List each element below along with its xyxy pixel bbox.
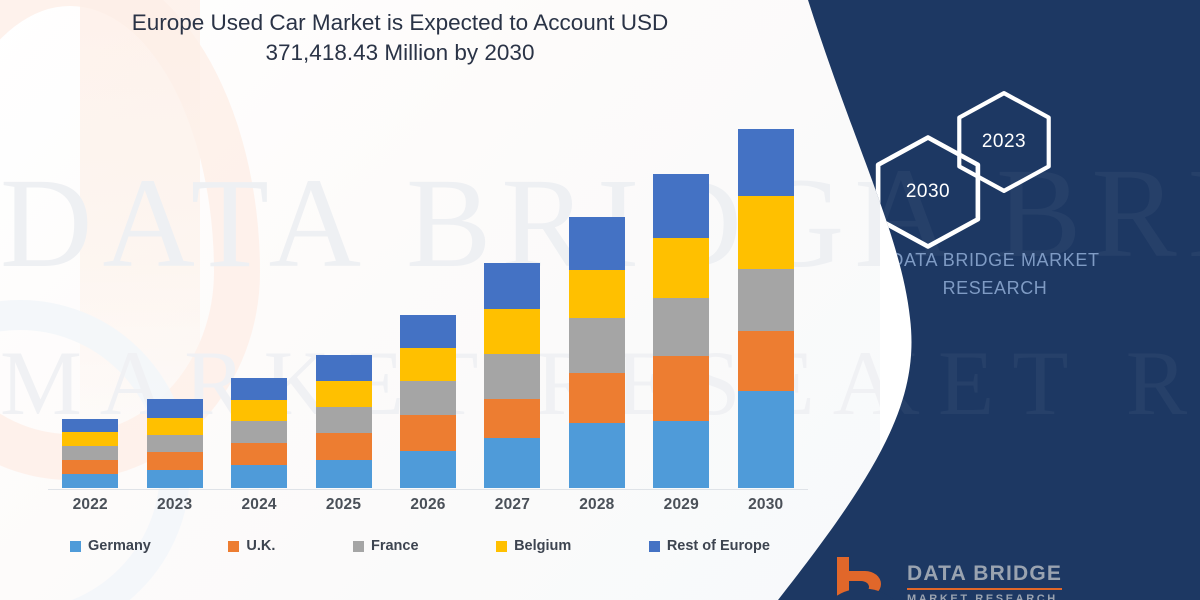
bar-2025 [316,110,372,488]
bar-segment-2024-germany [231,465,287,488]
legend-label: Rest of Europe [667,538,770,554]
bar-segment-2028-germany [569,423,625,488]
company-logo: DATA BRIDGE MARKET RESEARCH [835,555,1062,600]
x-tick-2023: 2023 [147,496,203,514]
chart-title-line2: 371,418.43 Million by 2030 [70,38,730,68]
bar-segment-2030-belgium [738,196,794,269]
bar-segment-2022-belgium [62,432,118,446]
x-tick-2029: 2029 [653,496,709,514]
logo-text: DATA BRIDGE MARKET RESEARCH [907,562,1062,600]
bar-segment-2023-u-k [147,452,203,470]
bar-segment-2028-france [569,318,625,373]
x-axis-line [48,489,808,490]
bar-segment-2029-u-k [653,356,709,421]
chart-title-line1: Europe Used Car Market is Expected to Ac… [70,8,730,38]
bar-segment-2026-belgium [400,348,456,381]
bar-segment-2025-rest-of-europe [316,355,372,381]
bar-segment-2028-rest-of-europe [569,217,625,270]
bar-segment-2025-belgium [316,381,372,407]
infographic-canvas: DATA BRIDGE MARKET RESEARCH Europe Used … [0,0,1200,600]
legend-label: U.K. [246,538,275,554]
legend-swatch-icon [228,541,239,552]
bar-segment-2024-belgium [231,400,287,421]
hexagon-badge-2023: 2023 [952,90,1056,194]
bar-segment-2023-germany [147,470,203,488]
brand-top-text: 2030 [878,0,1178,6]
bar-segment-2023-rest-of-europe [147,399,203,418]
bar-segment-2022-u-k [62,460,118,474]
bar-segment-2030-germany [738,391,794,488]
logo-line1: DATA BRIDGE [907,562,1062,590]
hexagon-badge-2023-label: 2023 [952,90,1056,194]
legend-item-belgium[interactable]: Belgium [496,538,571,554]
x-tick-2025: 2025 [316,496,372,514]
x-tick-2027: 2027 [484,496,540,514]
bar-segment-2030-u-k [738,331,794,391]
bar-segment-2030-france [738,269,794,331]
hexagon-badges: 2030 2023 [870,100,1100,240]
bar-segment-2027-belgium [484,309,540,354]
bar-segment-2022-germany [62,474,118,488]
brand-name-line1: DATA BRIDGE MARKET [870,246,1120,274]
bar-segment-2027-rest-of-europe [484,263,540,309]
bar-segment-2030-rest-of-europe [738,129,794,196]
bar-segment-2027-germany [484,438,540,488]
legend-swatch-icon [70,541,81,552]
legend-swatch-icon [353,541,364,552]
x-axis-labels: 202220232024202520262027202820292030 [48,496,808,514]
bar-2028 [569,110,625,488]
x-tick-2024: 2024 [231,496,287,514]
bar-segment-2028-belgium [569,270,625,318]
bar-2029 [653,110,709,488]
legend-item-rest-of-europe[interactable]: Rest of Europe [649,538,770,554]
bar-segment-2024-france [231,421,287,443]
bar-group [48,110,808,488]
bar-segment-2024-u-k [231,443,287,465]
bar-segment-2029-france [653,298,709,356]
legend-label: Belgium [514,538,571,554]
bar-segment-2026-u-k [400,415,456,451]
bar-segment-2026-france [400,381,456,415]
x-tick-2028: 2028 [569,496,625,514]
logo-line2: MARKET RESEARCH [907,593,1062,600]
legend-swatch-icon [649,541,660,552]
bar-segment-2026-germany [400,451,456,488]
bar-segment-2022-rest-of-europe [62,419,118,432]
x-tick-2022: 2022 [62,496,118,514]
bar-segment-2023-france [147,435,203,452]
bar-segment-2029-germany [653,421,709,488]
bar-segment-2022-france [62,446,118,460]
legend-item-germany[interactable]: Germany [70,538,151,554]
brand-name: DATA BRIDGE MARKET RESEARCH [870,246,1120,302]
legend-item-u-k[interactable]: U.K. [228,538,275,554]
bar-segment-2029-rest-of-europe [653,174,709,238]
chart-legend: GermanyU.K.FranceBelgiumRest of Europe [70,538,770,554]
bar-segment-2026-rest-of-europe [400,315,456,348]
bar-segment-2025-germany [316,460,372,488]
bar-segment-2027-u-k [484,399,540,438]
legend-label: France [371,538,419,554]
bar-segment-2025-u-k [316,433,372,460]
chart-title: Europe Used Car Market is Expected to Ac… [70,8,730,68]
legend-item-france[interactable]: France [353,538,419,554]
bar-2030 [738,110,794,488]
plot-area [48,110,808,490]
bar-2026 [400,110,456,488]
x-tick-2026: 2026 [400,496,456,514]
bridge-logo-icon [835,555,895,600]
x-tick-2030: 2030 [738,496,794,514]
bar-2022 [62,110,118,488]
legend-swatch-icon [496,541,507,552]
bar-2023 [147,110,203,488]
bar-segment-2023-belgium [147,418,203,435]
bar-segment-2027-france [484,354,540,399]
bar-segment-2025-france [316,407,372,433]
bar-2027 [484,110,540,488]
bar-segment-2024-rest-of-europe [231,378,287,400]
brand-name-line2: RESEARCH [870,274,1120,302]
bar-segment-2029-belgium [653,238,709,298]
legend-label: Germany [88,538,151,554]
bar-2024 [231,110,287,488]
bar-segment-2028-u-k [569,373,625,423]
